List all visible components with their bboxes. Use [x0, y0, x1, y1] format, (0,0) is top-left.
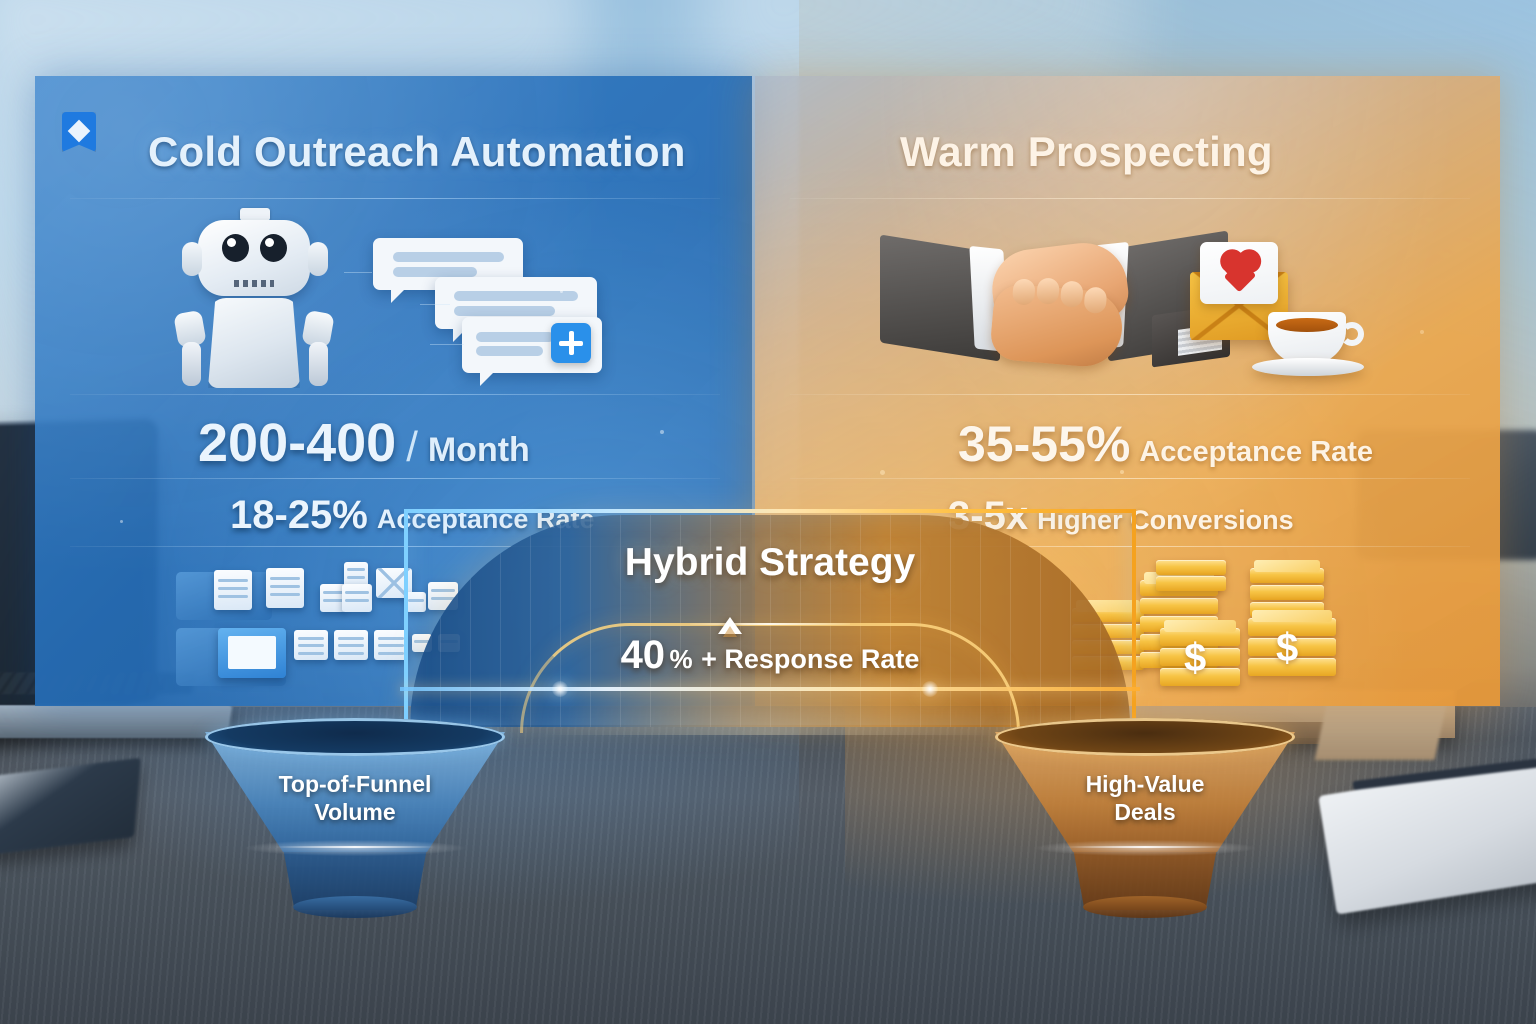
sparkle — [560, 290, 563, 293]
document-icon — [266, 568, 304, 608]
robot-forearm-right — [309, 342, 328, 386]
dollar-sign-icon: $ — [1184, 636, 1206, 681]
stat-acceptance-rate-warm: 35-55% Acceptance Rate — [958, 415, 1373, 473]
funnel-label-line2: Deals — [995, 798, 1295, 826]
stat-separator: / — [406, 423, 418, 471]
funnel-rim — [995, 718, 1295, 756]
stat-value: 200-400 — [198, 412, 396, 474]
stat-value: 35-55% — [958, 415, 1130, 473]
gold-bar-top — [1252, 610, 1332, 622]
laptop-base-icon — [0, 705, 232, 738]
bridge-node-right — [922, 681, 938, 697]
connector-line — [344, 272, 372, 273]
document-icon — [294, 630, 328, 660]
stat-unit: + Response Rate — [701, 644, 919, 674]
coffee-cup-handle — [1340, 322, 1364, 346]
gold-bar — [1156, 576, 1226, 591]
monitor-screen-icon — [218, 628, 286, 678]
funnel-top-of-funnel-volume: Top-of-Funnel Volume — [205, 718, 505, 918]
funnel-rim — [205, 718, 505, 756]
sparkle — [1120, 470, 1124, 474]
robot-eye-left — [222, 234, 249, 262]
bridge-response-rate-stat: 40 % + Response Rate — [400, 633, 1140, 678]
stat-value: 18-25% — [230, 493, 368, 538]
bridge-node-left — [552, 681, 568, 697]
coffee-saucer-icon — [1252, 358, 1364, 376]
funnel-label-line1: Top-of-Funnel — [205, 770, 505, 798]
robot-ear-left — [182, 242, 202, 276]
sparkle — [1420, 330, 1424, 334]
divider-line — [790, 478, 1470, 479]
robot-mouth — [234, 280, 274, 287]
funnel-label: High-Value Deals — [995, 770, 1295, 826]
divider-line — [790, 198, 1470, 199]
hand-lower — [989, 282, 1125, 369]
sparkle — [120, 520, 123, 523]
infographic-canvas: Cold Outreach Automation Warm Prospectin… — [0, 0, 1536, 1024]
page-title-right: Warm Prospecting — [900, 128, 1273, 176]
funnel-highlight — [1035, 840, 1255, 856]
divider-line — [70, 478, 720, 479]
connector-line — [430, 344, 464, 345]
bridge-title: Hybrid Strategy — [400, 541, 1140, 585]
gold-bar — [1156, 560, 1226, 575]
dollar-sign-icon: $ — [1276, 626, 1298, 671]
funnel-highlight — [245, 840, 465, 856]
connector-line — [420, 304, 450, 305]
document-icon — [214, 570, 252, 610]
sparkle — [660, 430, 664, 434]
divider-line — [70, 394, 720, 395]
sparkle — [880, 470, 885, 475]
hybrid-strategy-bridge: Hybrid Strategy 40 % + Response Rate — [400, 495, 1140, 740]
robot-ear-right — [308, 242, 328, 276]
funnel-stem-base — [293, 896, 417, 918]
handshake-icon — [880, 222, 1210, 392]
funnel-label-line1: High-Value — [995, 770, 1295, 798]
gold-bar — [1250, 585, 1324, 600]
stat-unit: Month — [428, 431, 530, 470]
divider-line — [690, 623, 850, 625]
stat-percent: % — [670, 644, 693, 674]
stat-volume-per-month: 200-400 / Month — [198, 412, 530, 474]
stat-unit: Acceptance Rate — [1139, 436, 1373, 469]
robot-body — [208, 298, 300, 388]
up-caret-icon — [718, 617, 742, 634]
divider-line — [790, 394, 1470, 395]
robot-icon — [176, 208, 336, 388]
gold-bar-top — [1254, 560, 1320, 572]
bridge-deck — [400, 687, 1140, 691]
stat-value: 40 — [621, 633, 666, 677]
document-icon — [334, 630, 368, 660]
funnel-stem-base — [1083, 896, 1207, 918]
funnel-label-line2: Volume — [205, 798, 505, 826]
page-title-left: Cold Outreach Automation — [148, 128, 686, 176]
funnel-high-value-deals: High-Value Deals — [995, 718, 1295, 918]
gold-bar — [1140, 598, 1218, 614]
funnel-label: Top-of-Funnel Volume — [205, 770, 505, 826]
divider-line — [70, 198, 720, 199]
desk-box-icon — [1315, 700, 1448, 760]
robot-forearm-left — [182, 342, 201, 386]
gold-bar-top — [1164, 620, 1236, 632]
document-icon — [342, 584, 372, 612]
robot-eye-right — [260, 234, 287, 262]
add-plus-icon — [551, 323, 591, 363]
